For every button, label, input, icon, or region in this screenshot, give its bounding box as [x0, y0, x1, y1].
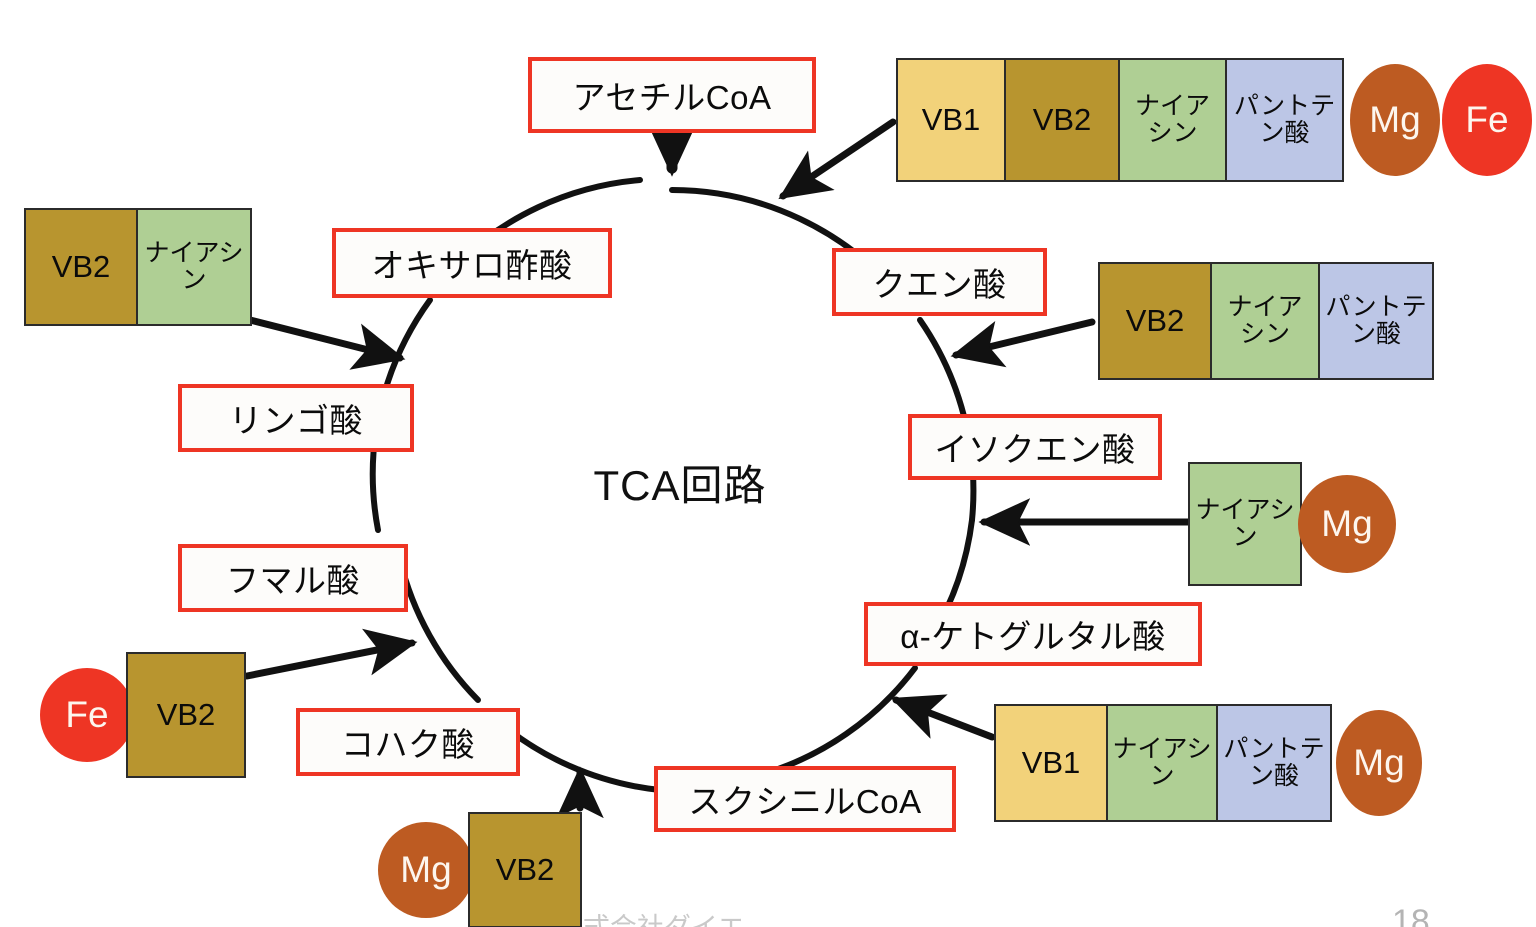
swatch-niacin[interactable]: ナイアシン — [1212, 264, 1320, 378]
nutrient-group-oxaloacetate-cofactors: VB2 ナイアシン — [24, 208, 252, 326]
arc-akg-succoa — [760, 668, 915, 775]
swatch-niacin[interactable]: ナイアシン — [138, 210, 250, 324]
mineral-fe[interactable]: Fe — [40, 668, 134, 762]
swatch-vb2[interactable]: VB2 — [470, 814, 580, 926]
arrow-fumarate-cofactors — [247, 643, 412, 676]
swatch-niacin[interactable]: ナイアシン — [1190, 464, 1300, 584]
mineral-mg[interactable]: Mg — [1350, 64, 1440, 176]
swatch-vb1[interactable]: VB1 — [898, 60, 1006, 180]
mineral-mg[interactable]: Mg — [1336, 710, 1422, 816]
swatch-row: VB1 VB2 ナイアシン パントテン酸 — [896, 58, 1344, 182]
swatch-row: VB1 ナイアシン パントテン酸 — [994, 704, 1332, 822]
arrow-citrate-cofactors — [783, 122, 893, 196]
swatch-row: VB2 ナイアシン — [24, 208, 252, 326]
swatch-row: ナイアシン — [1188, 462, 1302, 586]
swatch-niacin[interactable]: ナイアシン — [1108, 706, 1218, 820]
swatch-pantothenic-acid[interactable]: パントテン酸 — [1218, 706, 1330, 820]
nutrient-group-citrate-cofactors: VB1 VB2 ナイアシン パントテン酸 Mg Fe — [896, 58, 1532, 182]
tca-cycle-diagram: TCA回路 アセチルCoA オキサロ酢酸 クエン酸 イソクエン酸 α-ケトグルタ… — [0, 0, 1536, 927]
nutrient-group-isocitrate-cofactors: VB2 ナイアシン パントテン酸 — [1098, 262, 1434, 380]
swatch-niacin[interactable]: ナイアシン — [1120, 60, 1227, 180]
swatch-vb2[interactable]: VB2 — [1006, 60, 1120, 180]
swatch-vb2[interactable]: VB2 — [1100, 264, 1212, 378]
metabolite-succinate[interactable]: コハク酸 — [296, 708, 520, 776]
metabolite-citrate[interactable]: クエン酸 — [832, 248, 1047, 316]
swatch-vb1[interactable]: VB1 — [996, 706, 1108, 820]
mineral-mg[interactable]: Mg — [378, 822, 474, 918]
metabolite-acetyl-coa[interactable]: アセチルCoA — [528, 57, 816, 133]
nutrient-group-fumarate-cofactors: Fe VB2 — [40, 652, 246, 778]
page-number: 18 — [1392, 903, 1430, 927]
metabolite-malate[interactable]: リンゴ酸 — [178, 384, 414, 452]
swatch-pantothenic-acid[interactable]: パントテン酸 — [1320, 264, 1432, 378]
mineral-fe[interactable]: Fe — [1442, 64, 1532, 176]
metabolite-isocitrate[interactable]: イソクエン酸 — [908, 414, 1162, 480]
nutrient-group-succinyl-coa-cofactors: VB1 ナイアシン パントテン酸 Mg — [994, 704, 1422, 822]
swatch-vb2[interactable]: VB2 — [128, 654, 244, 776]
arrow-isocitrate-cofactors — [956, 322, 1092, 355]
metabolite-alpha-ketoglutarate[interactable]: α-ケトグルタル酸 — [864, 602, 1202, 666]
swatch-row: VB2 — [468, 812, 582, 927]
swatch-pantothenic-acid[interactable]: パントテン酸 — [1227, 60, 1342, 180]
arc-succinate-fumarate — [400, 560, 478, 700]
nutrient-group-alpha-kg-cofactors: ナイアシン Mg — [1188, 462, 1396, 586]
metabolite-succinyl-coa[interactable]: スクシニルCoA — [654, 766, 956, 832]
mineral-mg[interactable]: Mg — [1298, 475, 1396, 573]
nutrient-group-succinate-cofactors: Mg VB2 — [378, 812, 582, 927]
center-label: TCA回路 — [540, 452, 820, 513]
swatch-row: VB2 — [126, 652, 246, 778]
arrow-succoa-cofactors — [896, 700, 992, 737]
metabolite-oxaloacetate[interactable]: オキサロ酢酸 — [332, 228, 612, 298]
swatch-vb2[interactable]: VB2 — [26, 210, 138, 324]
swatch-row: VB2 ナイアシン パントテン酸 — [1098, 262, 1434, 380]
metabolite-fumarate[interactable]: フマル酸 — [178, 544, 408, 612]
arrow-oxaloacetate-cofactors — [250, 320, 400, 358]
